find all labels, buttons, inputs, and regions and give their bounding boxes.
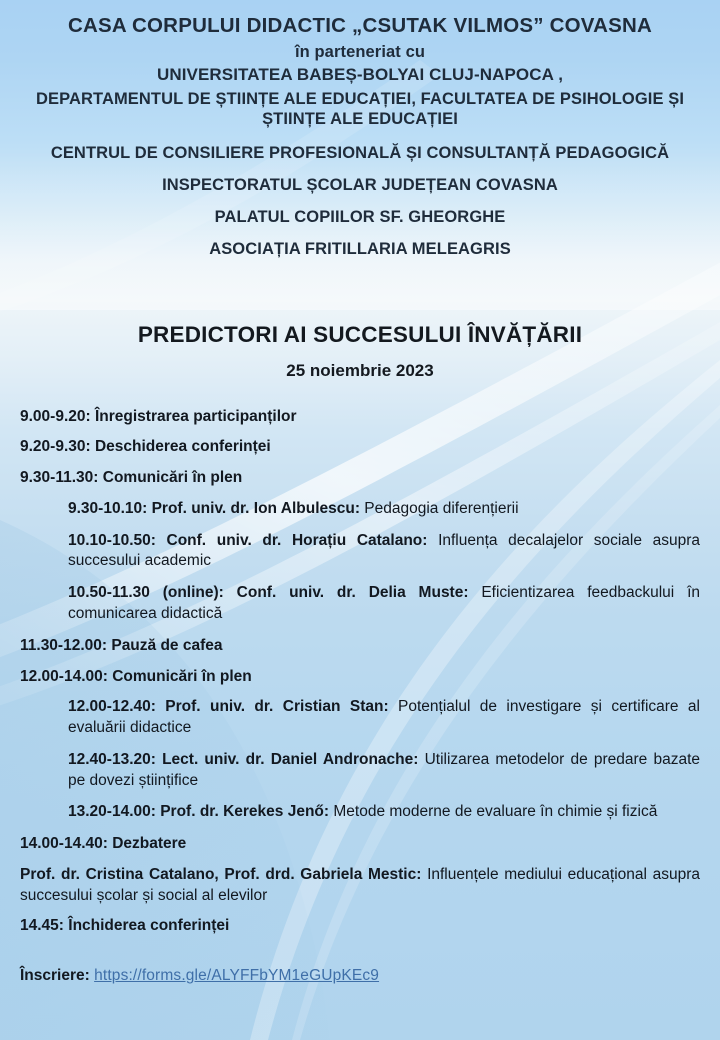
programme-item: Prof. dr. Cristina Catalano, Prof. drd. … [20,865,700,907]
organizer-counseling-center: CENTRUL DE CONSILIERE PROFESIONALĂ ȘI CO… [0,143,720,163]
programme-item-text: Comunicări în plen [108,668,252,685]
programme-item-time: Prof. dr. Cristina Catalano, Prof. drd. … [20,866,421,883]
programme-item-time: 12.00-12.40: Prof. univ. dr. Cristian St… [68,698,389,715]
programme-item: 9.30-10.10: Prof. univ. dr. Ion Albulesc… [20,499,700,520]
programme-item-time: 11.30-12.00: [20,637,107,654]
organizers-block: CASA CORPULUI DIDACTIC „CSUTAK VILMOS” C… [0,0,720,260]
programme-item: 12.00-12.40: Prof. univ. dr. Cristian St… [20,697,700,739]
programme-item: 14.45: Închiderea conferinței [20,916,700,937]
programme-item-time: 10.50-11.30 (online): Conf. univ. dr. De… [68,584,469,601]
registration-link[interactable]: https://forms.gle/ALYFFbYM1eGUpKEc9 [94,967,379,984]
organizer-university: UNIVERSITATEA BABEȘ-BOLYAI CLUJ-NAPOCA , [0,65,720,86]
programme-item-text: Comunicări în plen [98,469,242,486]
organizer-department: DEPARTAMENTUL DE ȘTIINȚE ALE EDUCAȚIEI, … [0,89,720,130]
programme-item-text: Deschiderea conferinței [91,438,271,455]
programme-item: 12.00-14.00: Comunicări în plen [20,667,700,688]
programme-item-time: 9.20-9.30: [20,438,91,455]
registration-block: Înscriere: https://forms.gle/ALYFFbYM1eG… [0,967,720,985]
event-date: 25 noiembrie 2023 [0,361,720,381]
programme-item: 9.30-11.30: Comunicări în plen [20,468,700,489]
registration-label: Înscriere: [20,967,90,984]
programme-item: 10.10-10.50: Conf. univ. dr. Horațiu Cat… [20,531,700,573]
programme-item-time: 12.00-14.00: [20,668,108,685]
organizer-association: ASOCIAȚIA FRITILLARIA MELEAGRIS [0,239,720,259]
programme-item: 13.20-14.00: Prof. dr. Kerekes Jenő: Met… [20,802,700,823]
programme-item: 9.20-9.30: Deschiderea conferinței [20,437,700,458]
programme-item-time: 14.45: [20,917,64,934]
programme-item-time: 14.00-14.40: [20,835,108,852]
programme-item-time: 9.30-11.30: [20,469,98,486]
programme-item-time: 13.20-14.00: Prof. dr. Kerekes Jenő: [68,803,329,820]
poster-canvas: CASA CORPULUI DIDACTIC „CSUTAK VILMOS” C… [0,0,720,1040]
programme-item: 12.40-13.20: Lect. univ. dr. Daniel Andr… [20,750,700,792]
programme-item-text: Metode moderne de evaluare în chimie și … [329,803,657,820]
programme-item-text: Pauză de cafea [107,637,222,654]
event-title: PREDICTORI AI SUCCESULUI ÎNVĂȚĂRII [0,322,720,348]
programme-item: 10.50-11.30 (online): Conf. univ. dr. De… [20,583,700,625]
programme-item: 14.00-14.40: Dezbatere [20,834,700,855]
programme-list: 9.00-9.20: Înregistrarea participanților… [0,407,720,938]
programme-item: 9.00-9.20: Înregistrarea participanților [20,407,700,428]
organizer-inspectorate: INSPECTORATUL ȘCOLAR JUDEȚEAN COVASNA [0,175,720,195]
programme-item-text: Pedagogia diferențierii [360,500,519,517]
programme-item: 11.30-12.00: Pauză de cafea [20,636,700,657]
organizer-main: CASA CORPULUI DIDACTIC „CSUTAK VILMOS” C… [0,13,720,38]
partnership-label: în parteneriat cu [0,42,720,62]
organizer-children-palace: PALATUL COPIILOR SF. GHEORGHE [0,207,720,227]
programme-item-text: Înregistrarea participanților [91,408,297,425]
programme-item-time: 9.30-10.10: Prof. univ. dr. Ion Albulesc… [68,500,360,517]
programme-item-text: Închiderea conferinței [64,917,229,934]
programme-item-time: 12.40-13.20: Lect. univ. dr. Daniel Andr… [68,751,418,768]
programme-item-text: Dezbatere [108,835,186,852]
programme-item-time: 10.10-10.50: Conf. univ. dr. Horațiu Cat… [68,532,427,549]
programme-item-time: 9.00-9.20: [20,408,91,425]
title-block: PREDICTORI AI SUCCESULUI ÎNVĂȚĂRII 25 no… [0,322,720,381]
